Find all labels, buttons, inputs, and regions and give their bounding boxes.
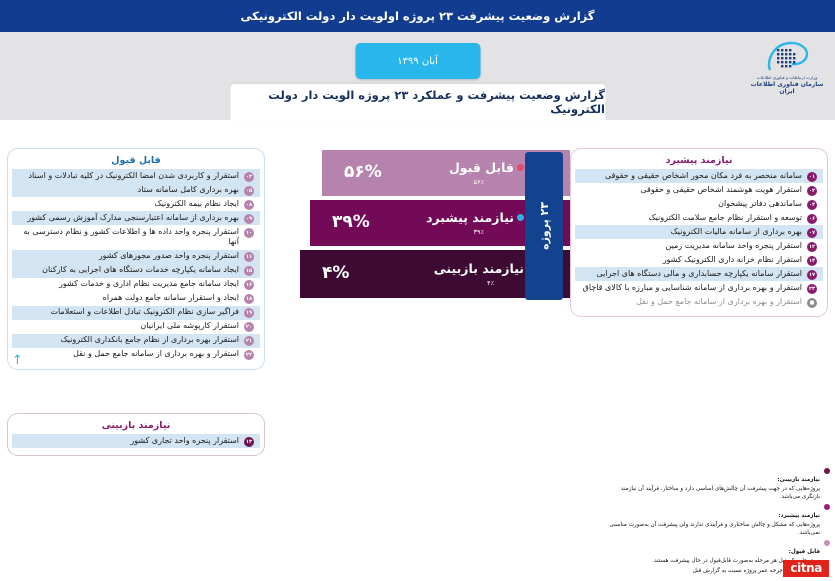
chart-band-review-percent: ۴% [322, 263, 349, 283]
panel-acceptable: قابل قبول ۰۳ استقرار و کاربردی شدن امضا … [7, 148, 265, 370]
list-item[interactable]: ۰۴ ساماندهی دفاتر پیشخوان [575, 197, 823, 211]
chart-band-progress-percent: ۳۹% [332, 212, 370, 232]
item-number-badge: ۱۰ [244, 228, 254, 238]
project-count-bar: ۲۳ پروژه [525, 152, 563, 300]
item-number-badge: ۱۸ [244, 294, 254, 304]
item-label: ساماندهی دفاتر پیشخوان [579, 199, 802, 210]
item-label: استقرار پنجره واحد صدور مجوزهای کشور [16, 251, 239, 262]
item-label: استقرار نظام خزانه داری الکترونیک کشور [579, 255, 802, 266]
list-item[interactable]: ۲۳ استقرار و بهره برداری از سامانه شناسا… [575, 281, 823, 295]
panel-progress-title: نیازمند پیشبرد [575, 155, 823, 166]
item-number-badge: ۰۳ [244, 172, 254, 182]
item-number-badge: ۱۴ [807, 256, 817, 266]
panel-review-title: نیازمند بازبینی [12, 420, 260, 431]
list-item[interactable]: ۱۱ استقرار پنجره واحد صدور مجوزهای کشور [12, 250, 260, 264]
legend-term-review: نیازمند بازبینی: [777, 477, 820, 483]
panel-review: نیازمند بازبینی ۱۳ استقرار پنجره واحد تج… [7, 413, 265, 456]
item-number-badge: ۱۹ [244, 308, 254, 318]
date-chip-label: آبان ۱۳۹۹ [397, 56, 438, 67]
legend-entry-progress: نیازمند پیشبرد: پروژه‌هایی که مشکل و چال… [608, 502, 830, 537]
list-item[interactable]: ۰۹ بهره برداری از سامانه اعتبارسنجی مدار… [12, 211, 260, 225]
chart-band-acceptable-percent: ۵۶% [344, 162, 382, 182]
list-item[interactable]: ۱۳ استقرار پنجره واحد تجاری کشور [12, 434, 260, 448]
item-label: بهره برداری کامل سامانه ستاد [16, 185, 239, 196]
list-item-faded[interactable]: ■ استقرار و بهره برداری از سامانه جامع ح… [575, 295, 823, 309]
list-item[interactable]: ۱۶ ایجاد سامانه جامع مدیریت نظام اداری و… [12, 278, 260, 292]
panel-review-list: ۱۳ استقرار پنجره واحد تجاری کشور [12, 434, 260, 448]
list-item[interactable]: ۰۲ استقرار هویت هوشمند اشخاص حقیقی و حقو… [575, 183, 823, 197]
legend-desc-progress: پروژه‌هایی که مشکل و چالش ساختاری و فرآی… [608, 521, 820, 537]
chart-band-acceptable-label: قابل قبول [449, 160, 514, 175]
item-label: توسعه و استقرار نظام جامع سلامت الکترونی… [579, 213, 802, 224]
chart-band-acceptable-sub: ۵۶٪ [474, 178, 484, 186]
list-item[interactable]: ۲۰ استقرار کارپوشه ملی ایرانیان [12, 320, 260, 334]
item-label: استقرار کارپوشه ملی ایرانیان [16, 321, 239, 332]
list-item[interactable]: ۱۹ فراگیر سازی نظام الکترونیک تبادل اطلا… [12, 306, 260, 320]
list-item[interactable]: ۰۱ سامانه منحصر به فرد مکان محور اشخاص ح… [575, 169, 823, 183]
legend-entry-review: نیازمند بازبینی: پروژه‌هایی که در جهت پی… [608, 466, 830, 501]
chart-band-progress-sub: ۳۹٪ [474, 228, 484, 236]
citna-watermark: citna [783, 560, 829, 577]
chart-band-review-sub: ۴٪ [487, 279, 494, 287]
panel-acceptable-title: قابل قبول [12, 155, 260, 166]
item-number-badge: ۱۳ [244, 437, 254, 447]
list-item[interactable]: ۲۲ استقرار و بهره برداری از سامانه جامع … [12, 348, 260, 362]
item-number-badge: ۱۵ [244, 266, 254, 276]
legend-dot-review-icon [824, 468, 830, 474]
item-number-badge: ۰۶ [807, 214, 817, 224]
chart-band-progress-label: نیازمند پیشبرد [426, 210, 514, 225]
ghost-item-icon: ■ [807, 298, 817, 308]
item-number-badge: ۰۲ [807, 186, 817, 196]
legend-dot-progress-icon [824, 504, 830, 510]
panel-progress: نیازمند پیشبرد ۰۱ سامانه منحصر به فرد مک… [570, 148, 828, 317]
item-label: استقرار هویت هوشمند اشخاص حقیقی و حقوقی [579, 185, 802, 196]
list-item[interactable]: ۰۶ توسعه و استقرار نظام جامع سلامت الکتر… [575, 211, 823, 225]
chart-band-progress-bullet-icon [517, 214, 524, 221]
list-item[interactable]: ۰۵ بهره برداری کامل سامانه ستاد [12, 183, 260, 197]
logo-caption-organization: سازمان فناوری اطلاعات ایران [748, 81, 826, 95]
item-number-badge: ۱۱ [244, 252, 254, 262]
list-item[interactable]: ۰۸ ایجاد نظام بیمه الکترونیک [12, 197, 260, 211]
item-number-badge: ۱۶ [244, 280, 254, 290]
legend-term-progress: نیازمند پیشبرد: [778, 513, 820, 519]
list-item[interactable]: ۱۴ استقرار نظام خزانه داری الکترونیک کشو… [575, 253, 823, 267]
item-number-badge: ۰۹ [244, 214, 254, 224]
item-label: استقرار و بهره برداری از سامانه شناسایی … [579, 283, 802, 294]
item-label: ایجاد نظام بیمه الکترونیک [16, 199, 239, 210]
organization-logo: وزارت ارتباطات و فناوری اطلاعات سازمان ف… [748, 40, 826, 95]
legend-desc-review: پروژه‌هایی که در جهت پیشرفت آن چالش‌های … [608, 485, 820, 501]
list-item[interactable]: ۱۲ استقرار پنجره واحد سامانه مدیریت زمین [575, 239, 823, 253]
item-label: استقرار پنجره واحد تجاری کشور [16, 436, 239, 447]
list-item[interactable]: ۱۰ استقرار پنجره واحد داده ها و اطلاعات … [12, 225, 260, 250]
chart-band-review-label: نیازمند بازبینی [434, 261, 524, 276]
list-item[interactable]: ۲۱ استقرار بهره برداری از نظام جامع بانک… [12, 334, 260, 348]
item-number-badge: ۰۸ [244, 200, 254, 210]
item-number-badge: ۲۳ [807, 284, 817, 294]
date-chip[interactable]: آبان ۱۳۹۹ [355, 43, 480, 79]
item-label: ایجاد و استقرار سامانه جامع دولت همراه [16, 293, 239, 304]
item-number-badge: ۰۷ [807, 228, 817, 238]
list-item[interactable]: ۱۸ ایجاد و استقرار سامانه جامع دولت همرا… [12, 292, 260, 306]
panel-acceptable-list: ۰۳ استقرار و کاربردی شدن امضا الکترونیک … [12, 169, 260, 362]
item-number-badge: ۰۱ [807, 172, 817, 182]
list-item[interactable]: ۱۵ ایجاد سامانه یکپارچه خدمات دستگاه های… [12, 264, 260, 278]
item-label: استقرار سامانه یکپارچه حسابداری و مالی د… [579, 269, 802, 280]
item-label: بهره برداری از سامانه اعتبارسنجی مدارک آ… [16, 213, 239, 224]
list-item[interactable]: ۰۳ استقرار و کاربردی شدن امضا الکترونیک … [12, 169, 260, 183]
item-number-badge: ۲۱ [244, 336, 254, 346]
item-label: استقرار بهره برداری از نظام جامع بانکدار… [16, 335, 239, 346]
subtitle-text: گزارش وضعیت پیشرفت و عملکرد ۲۳ پروژه الو… [230, 88, 605, 116]
legend-dot-acceptable-icon [824, 540, 830, 546]
item-label: استقرار و کاربردی شدن امضا الکترونیک در … [16, 171, 239, 182]
legend-term-acceptable: قابل قبول: [789, 549, 820, 555]
list-item[interactable]: ۰۷ بهره برداری از سامانه مالیات الکترونی… [575, 225, 823, 239]
item-label: فراگیر سازی نظام الکترونیک تبادل اطلاعات… [16, 307, 239, 318]
item-number-badge: ۲۰ [244, 322, 254, 332]
logo-caption-ministry: وزارت ارتباطات و فناوری اطلاعات [748, 75, 826, 80]
item-label: استقرار و بهره برداری از سامانه جامع حمل… [579, 297, 802, 308]
item-number-badge: ۲۲ [244, 350, 254, 360]
improvement-arrow-icon: ↑ [12, 354, 23, 367]
item-label: استقرار و بهره برداری از سامانه جامع حمل… [16, 349, 239, 360]
page-title: گزارش وضعیت پیشرفت ۲۳ پروژه اولویت دار د… [241, 9, 595, 23]
item-label: استقرار پنجره واحد سامانه مدیریت زمین [579, 241, 802, 252]
item-number-badge: ۰۴ [807, 200, 817, 210]
header-bar: گزارش وضعیت پیشرفت ۲۳ پروژه اولویت دار د… [0, 0, 835, 32]
logo-icon [764, 40, 810, 74]
item-label: بهره برداری از سامانه مالیات الکترونیک [579, 227, 802, 238]
item-label: سامانه منحصر به فرد مکان محور اشخاص حقیق… [579, 171, 802, 182]
panel-progress-list: ۰۱ سامانه منحصر به فرد مکان محور اشخاص ح… [575, 169, 823, 309]
project-count-label: ۲۳ پروژه [538, 202, 551, 250]
item-label: استقرار پنجره واحد داده ها و اطلاعات کشو… [16, 227, 239, 249]
item-number-badge: ۱۷ [807, 270, 817, 280]
item-label: ایجاد سامانه یکپارچه خدمات دستگاه های اج… [16, 265, 239, 276]
list-item[interactable]: ۱۷ استقرار سامانه یکپارچه حسابداری و مال… [575, 267, 823, 281]
item-number-badge: ۰۵ [244, 186, 254, 196]
subtitle-panel: گزارش وضعیت پیشرفت و عملکرد ۲۳ پروژه الو… [230, 84, 605, 120]
item-label: ایجاد سامانه جامع مدیریت نظام اداری و خد… [16, 279, 239, 290]
item-number-badge: ۱۲ [807, 242, 817, 252]
chart-band-acceptable-bullet-icon [517, 164, 524, 171]
